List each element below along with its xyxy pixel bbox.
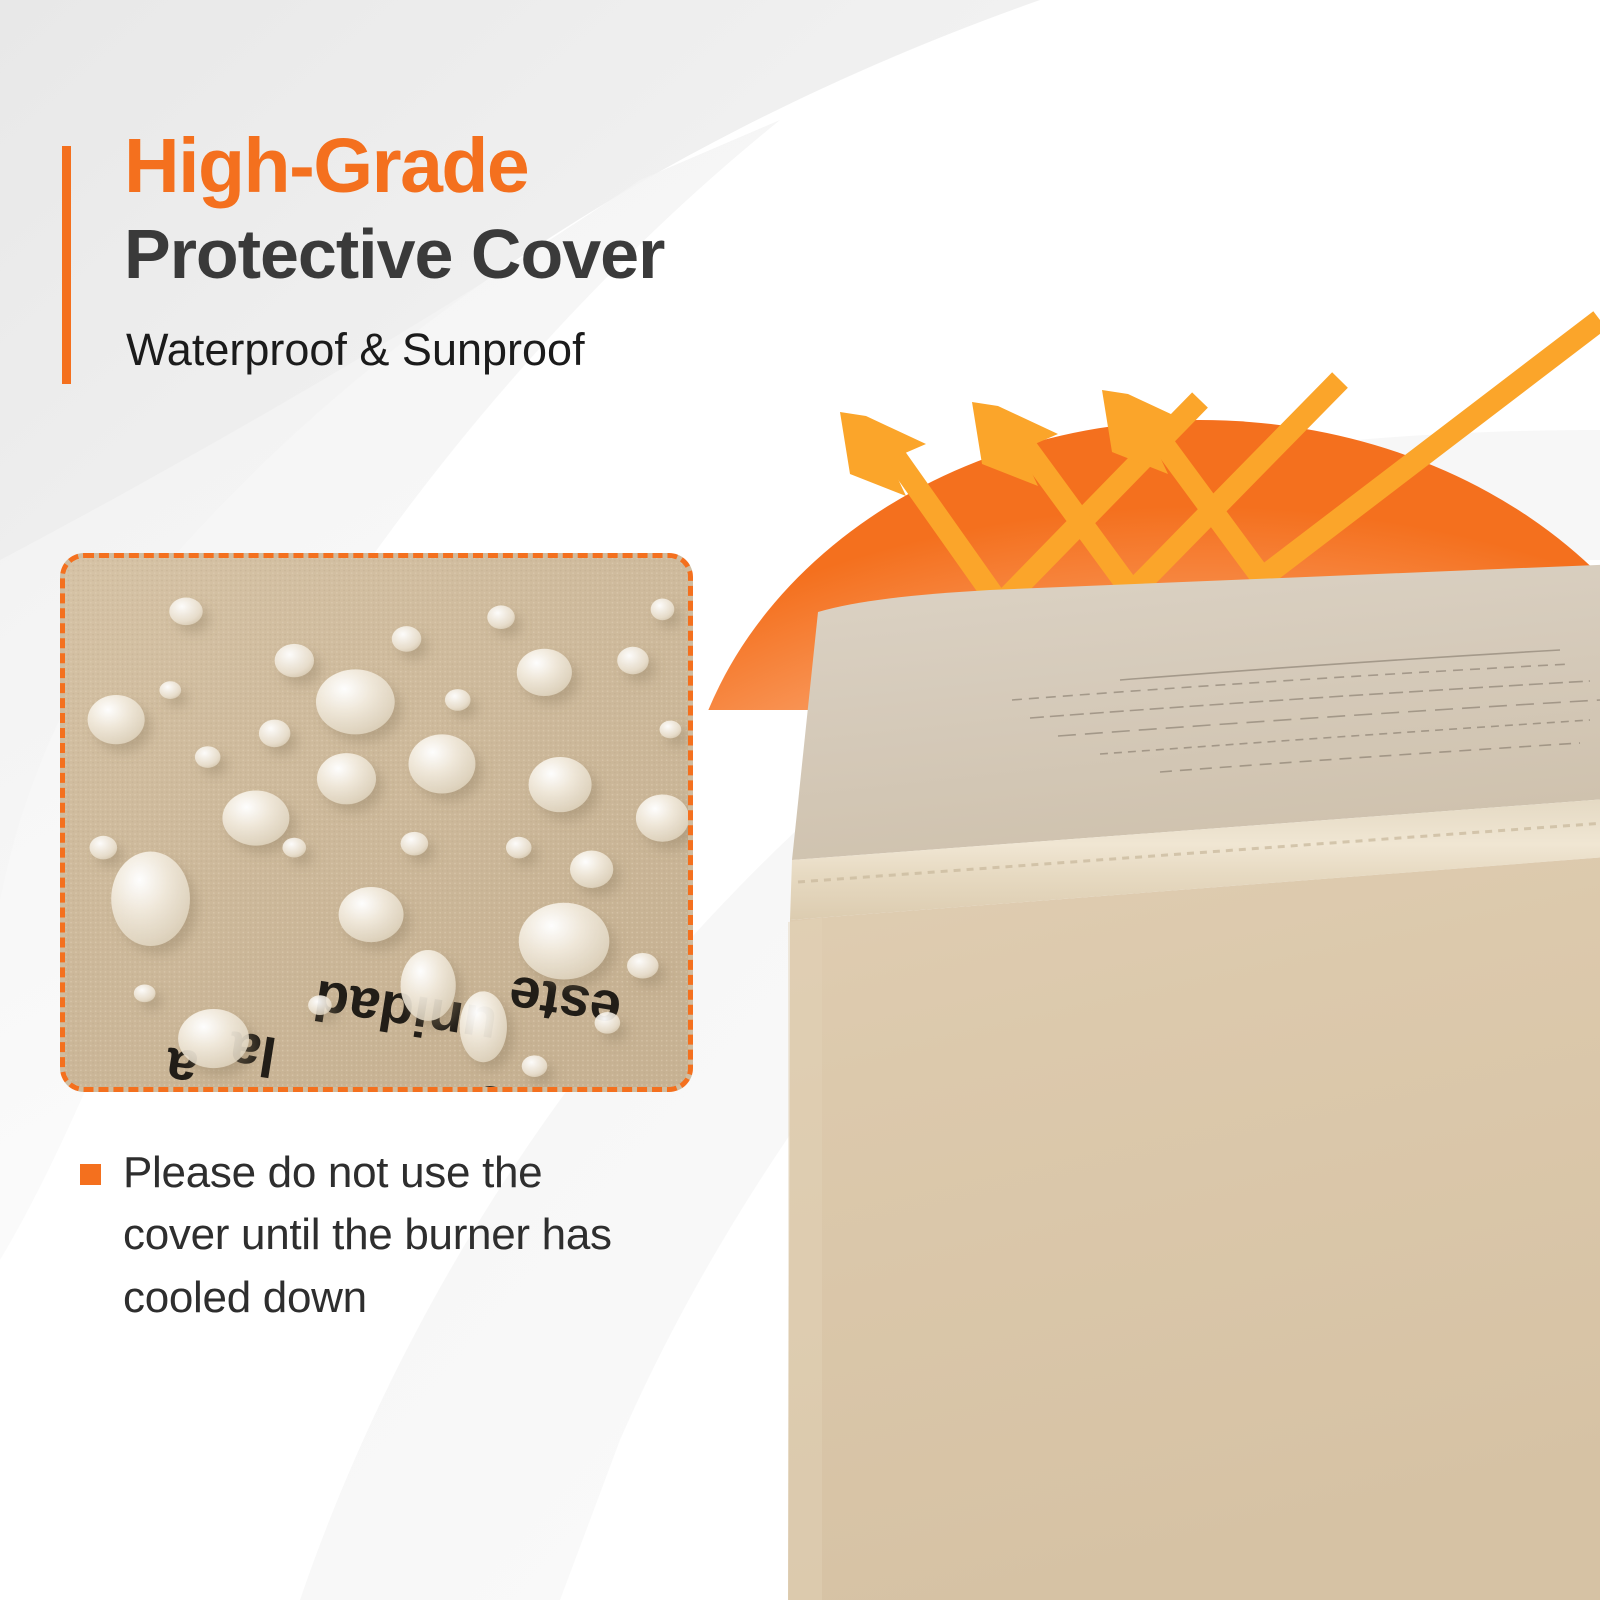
- orange-accent-bar: [62, 146, 71, 384]
- usage-warning-text: Please do not use the cover until the bu…: [123, 1142, 620, 1329]
- headline-primary: High-Grade: [124, 128, 984, 205]
- headline-block: High-Grade Protective Cover Waterproof &…: [124, 128, 984, 372]
- headline-secondary: Protective Cover: [124, 219, 984, 289]
- usage-warning-note: Please do not use the cover until the bu…: [80, 1142, 620, 1329]
- square-bullet-icon: [80, 1164, 101, 1185]
- product-feature-banner: High-Grade Protective Cover Waterproof &…: [0, 0, 1600, 1600]
- water-droplet-fabric-photo: este unidad la a antes: [60, 553, 693, 1092]
- waterproof-detail-inset: este unidad la a antes: [60, 553, 693, 1092]
- headline-subtitle: Waterproof & Sunproof: [126, 327, 984, 372]
